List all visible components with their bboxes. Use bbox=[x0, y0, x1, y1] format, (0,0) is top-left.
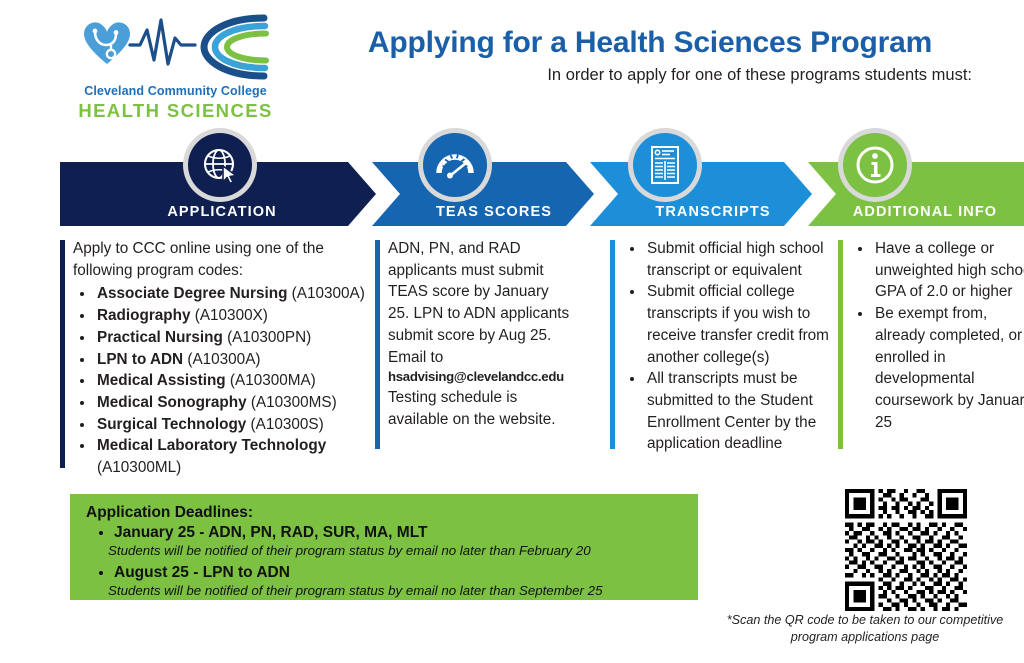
qr-code-image[interactable] bbox=[845, 489, 967, 611]
program-name: Surgical Technology bbox=[97, 416, 246, 433]
header: Cleveland Community College HEALTH SCIEN… bbox=[0, 0, 1024, 125]
list-item: Practical Nursing (A10300PN) bbox=[95, 327, 370, 349]
page-title: Applying for a Health Sciences Program bbox=[300, 26, 1000, 60]
list-item: Be exempt from, already completed, or en… bbox=[873, 303, 1024, 433]
program-name: Medical Assisting bbox=[97, 372, 226, 389]
column-teas-scores: ADN, PN, and RAD applicants must submit … bbox=[375, 238, 571, 453]
program-name: Associate Degree Nursing bbox=[97, 285, 287, 302]
program-name: Medical Sonography bbox=[97, 394, 247, 411]
column-transcripts: Submit official high school transcript o… bbox=[610, 238, 840, 453]
teas-scores-icon-bubble bbox=[418, 128, 492, 202]
teas-paragraph-1: ADN, PN, and RAD applicants must submit … bbox=[388, 238, 571, 347]
program-code: (A10300ML) bbox=[97, 459, 181, 476]
list-item: Surgical Technology (A10300S) bbox=[95, 414, 370, 436]
program-name: Radiography bbox=[97, 307, 191, 324]
list-item: Submit official college transcripts if y… bbox=[645, 281, 840, 368]
infographic-page: Cleveland Community College HEALTH SCIEN… bbox=[0, 0, 1024, 663]
list-item: LPN to ADN (A10300A) bbox=[95, 349, 370, 371]
application-program-list: Associate Degree Nursing (A10300A) Radio… bbox=[73, 283, 370, 478]
additional-info-list: Have a college or unweighted high school… bbox=[851, 238, 1024, 433]
program-name: LPN to ADN bbox=[97, 351, 183, 368]
step-teas-scores-label: TEAS SCORES bbox=[372, 204, 594, 220]
step-application-label: APPLICATION bbox=[60, 204, 376, 220]
step-additional-info-label: ADDITIONAL INFO bbox=[808, 204, 1024, 220]
page-subtitle: In order to apply for one of these progr… bbox=[300, 66, 1000, 85]
program-code: (A10300X) bbox=[191, 307, 268, 324]
step-transcripts-label: TRANSCRIPTS bbox=[590, 204, 812, 220]
deadline-note: Students will be notified of their progr… bbox=[108, 543, 698, 560]
application-icon-bubble bbox=[183, 128, 257, 202]
program-code: (A10300MS) bbox=[247, 394, 337, 411]
program-code: (A10300MA) bbox=[226, 372, 316, 389]
list-item: Submit official high school transcript o… bbox=[645, 238, 840, 281]
process-step-banner: APPLICATION TEAS SCORES TRANSCRIPTS ADDI… bbox=[60, 162, 964, 226]
list-item: January 25 - ADN, PN, RAD, SUR, MA, MLT … bbox=[114, 523, 698, 560]
column-application: Apply to CCC online using one of the fol… bbox=[60, 238, 370, 474]
list-item: August 25 - LPN to ADN Students will be … bbox=[114, 563, 698, 600]
additional-info-icon-bubble bbox=[838, 128, 912, 202]
teas-paragraph-3: Testing schedule is available on the web… bbox=[388, 387, 571, 430]
application-deadlines-box: Application Deadlines: January 25 - ADN,… bbox=[70, 494, 698, 600]
column-additional-info: Have a college or unweighted high school… bbox=[838, 238, 1024, 453]
qr-caption: *Scan the QR code to be taken to our com… bbox=[715, 612, 1015, 646]
logo-college-name: Cleveland Community College bbox=[68, 84, 283, 98]
application-lead-text: Apply to CCC online using one of the fol… bbox=[73, 238, 370, 281]
program-code: (A10300A) bbox=[183, 351, 260, 368]
transcripts-list: Submit official high school transcript o… bbox=[623, 238, 840, 455]
program-code: (A10300PN) bbox=[223, 329, 311, 346]
requirements-columns: Apply to CCC online using one of the fol… bbox=[60, 238, 1024, 478]
transcripts-icon-bubble bbox=[628, 128, 702, 202]
program-name: Practical Nursing bbox=[97, 329, 223, 346]
deadline-date: August 25 - LPN to ADN bbox=[114, 564, 290, 581]
teas-paragraph-2: Email to bbox=[388, 347, 571, 369]
list-item: Medical Sonography (A10300MS) bbox=[95, 392, 370, 414]
info-circle-icon bbox=[853, 143, 897, 187]
program-name: Medical Laboratory Technology bbox=[97, 437, 326, 454]
document-icon bbox=[646, 144, 684, 186]
deadlines-heading: Application Deadlines: bbox=[86, 504, 698, 522]
program-code: (A10300S) bbox=[246, 416, 323, 433]
logo-department-name: HEALTH SCIENCES bbox=[68, 100, 283, 122]
deadlines-list: January 25 - ADN, PN, RAD, SUR, MA, MLT … bbox=[86, 523, 698, 600]
list-item: Have a college or unweighted high school… bbox=[873, 238, 1024, 303]
list-item: Radiography (A10300X) bbox=[95, 305, 370, 327]
speedometer-icon bbox=[434, 144, 476, 186]
list-item: All transcripts must be submitted to the… bbox=[645, 368, 840, 455]
health-sciences-logo-mark bbox=[68, 12, 283, 82]
cleveland-community-college-logo: Cleveland Community College HEALTH SCIEN… bbox=[68, 12, 283, 117]
list-item: Medical Assisting (A10300MA) bbox=[95, 370, 370, 392]
globe-cursor-icon bbox=[200, 145, 240, 185]
deadline-note: Students will be notified of their progr… bbox=[108, 583, 698, 600]
deadline-date: January 25 - ADN, PN, RAD, SUR, MA, MLT bbox=[114, 524, 427, 541]
list-item: Medical Laboratory Technology (A10300ML) bbox=[95, 435, 370, 478]
qr-code[interactable] bbox=[845, 489, 967, 611]
list-item: Associate Degree Nursing (A10300A) bbox=[95, 283, 370, 305]
program-code: (A10300A) bbox=[287, 285, 364, 302]
hsadvising-email[interactable]: hsadvising@clevelandcc.edu bbox=[388, 368, 571, 387]
